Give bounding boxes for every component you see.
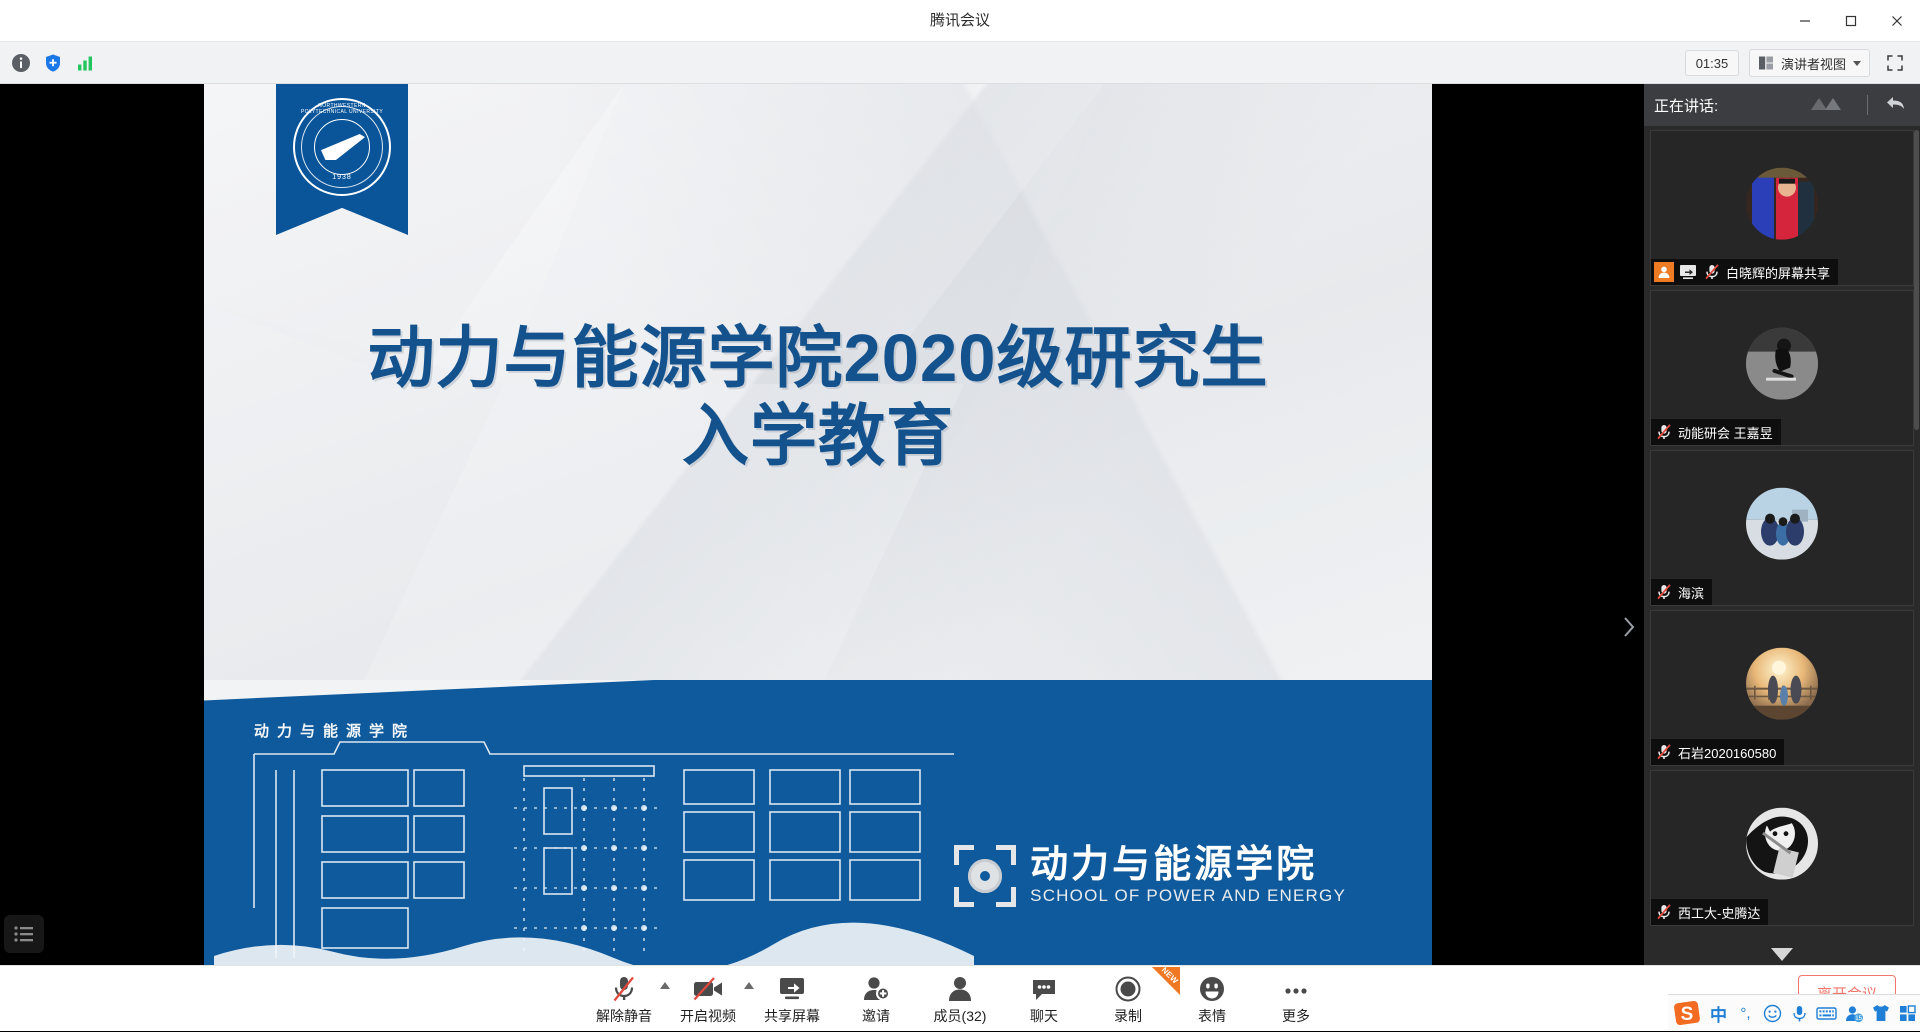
mute-label: 解除静音 <box>596 1006 652 1026</box>
more-dots-icon <box>1282 973 1310 1003</box>
window-controls <box>1782 0 1920 42</box>
share-screen-label: 共享屏幕 <box>764 1006 820 1026</box>
chevron-down-icon[interactable] <box>1771 948 1793 961</box>
svg-text:15: 15 <box>1855 1016 1862 1022</box>
participant-name: 海滨 <box>1678 583 1704 602</box>
sidebar-scrollbar[interactable] <box>1914 130 1919 430</box>
list-view-icon[interactable] <box>4 915 44 953</box>
share-screen-button[interactable]: 共享屏幕 <box>750 969 834 1029</box>
host-icon <box>1654 262 1674 282</box>
seal-year: 1938 <box>295 174 389 181</box>
record-button[interactable]: 录制 NEW <box>1086 969 1170 1029</box>
school-emblem-icon <box>954 845 1016 907</box>
minimize-button[interactable] <box>1782 0 1828 42</box>
seal-top-text: NORTHWESTERN POLYTECHNICAL UNIVERSITY <box>295 103 389 115</box>
school-name-en: SCHOOL OF POWER AND ENERGY <box>1030 886 1346 906</box>
school-name-cn: 动力与能源学院 <box>1030 846 1346 886</box>
shared-screen-slide[interactable]: NORTHWESTERN POLYTECHNICAL UNIVERSITY 19… <box>204 84 1432 965</box>
school-logo: 动力与能源学院 SCHOOL OF POWER AND ENERGY <box>954 845 1346 907</box>
participant-label: 动能研会 王嘉昱 <box>1651 419 1781 445</box>
building-blueprint-illustration: 动力与能源学院 <box>214 708 974 965</box>
svg-text:S: S <box>1681 1004 1694 1025</box>
participant-name: 西工大-史腾达 <box>1678 903 1760 922</box>
microphone-muted-icon <box>1654 582 1674 602</box>
participant-label: 白晓辉的屏幕共享 <box>1651 259 1838 285</box>
ime-punctuation-label: °, <box>1740 1005 1750 1022</box>
maximize-button[interactable] <box>1828 0 1874 42</box>
video-label: 开启视频 <box>680 1006 736 1026</box>
participants-sidebar: 正在讲话: <box>1644 84 1920 965</box>
slide-title: 动力与能源学院2020级研究生 入学教育 <box>204 320 1432 475</box>
participant-tiles: 白晓辉的屏幕共享 <box>1644 126 1920 965</box>
signal-bars-icon[interactable] <box>72 50 98 76</box>
user-badge-icon[interactable]: 15 <box>1841 998 1866 1028</box>
emoji-smile-icon <box>1198 973 1226 1003</box>
microphone-muted-icon <box>1654 422 1674 442</box>
shield-plus-icon[interactable] <box>40 50 66 76</box>
avatar <box>1746 168 1818 240</box>
microphone-muted-icon <box>1654 742 1674 762</box>
nwpu-seal-icon: NORTHWESTERN POLYTECHNICAL UNIVERSITY 19… <box>293 98 391 196</box>
sogou-ime-toolbar: S 中 °, <box>1668 994 1920 1031</box>
participant-label: 石岩2020160580 <box>1651 739 1784 765</box>
slide-upper-area: NORTHWESTERN POLYTECHNICAL UNIVERSITY 19… <box>204 84 1432 680</box>
toolbar-left-group <box>8 42 98 84</box>
window-title: 腾讯会议 <box>0 0 1920 42</box>
meeting-control-bar: 解除静音 开启视频 共享屏幕 <box>0 965 1920 1031</box>
participants-icon <box>947 973 973 1003</box>
invite-label: 邀请 <box>862 1006 890 1026</box>
share-screen-icon <box>777 973 807 1003</box>
ime-mode-toggle[interactable]: 中 <box>1706 998 1731 1028</box>
avatar <box>1746 808 1818 880</box>
window-title-bar: 腾讯会议 <box>0 0 1920 42</box>
blueprint-lines <box>214 708 974 965</box>
view-mode-label: 演讲者视图 <box>1781 54 1846 73</box>
record-label: 录制 <box>1114 1006 1142 1026</box>
chat-button[interactable]: 聊天 <box>1002 969 1086 1029</box>
participant-label: 海滨 <box>1651 579 1712 605</box>
fullscreen-icon[interactable] <box>1880 49 1910 77</box>
app-grid-icon[interactable] <box>1895 998 1920 1028</box>
invite-person-icon <box>862 973 890 1003</box>
seal-inner-ring <box>314 119 370 175</box>
record-circle-icon <box>1114 973 1142 1003</box>
chevron-right-icon[interactable] <box>1616 604 1642 650</box>
smiley-icon[interactable] <box>1760 998 1785 1028</box>
avatar <box>1746 488 1818 560</box>
more-button[interactable]: 更多 <box>1254 969 1338 1029</box>
mute-toggle-button[interactable]: 解除静音 <box>582 969 666 1029</box>
meeting-stage: NORTHWESTERN POLYTECHNICAL UNIVERSITY 19… <box>0 84 1920 965</box>
participant-name: 白晓辉的屏幕共享 <box>1726 263 1830 282</box>
header-divider <box>1867 95 1868 115</box>
invite-button[interactable]: 邀请 <box>834 969 918 1029</box>
control-buttons-group: 解除静音 开启视频 共享屏幕 <box>582 966 1338 1032</box>
emoji-label: 表情 <box>1198 1006 1226 1026</box>
slide-title-line-1: 动力与能源学院2020级研究生 <box>204 320 1432 398</box>
participants-button[interactable]: 成员(32) <box>918 969 1002 1029</box>
keyboard-icon[interactable] <box>1814 998 1839 1028</box>
microphone-muted-icon <box>1702 262 1722 282</box>
microphone-icon[interactable] <box>1787 998 1812 1028</box>
avatar <box>1746 328 1818 400</box>
ime-mode-label: 中 <box>1710 1001 1727 1026</box>
close-button[interactable] <box>1874 0 1920 42</box>
camera-muted-icon <box>692 973 724 1003</box>
sidebar-header: 正在讲话: <box>1644 84 1920 126</box>
tencent-meeting-mark <box>1809 94 1853 116</box>
layout-icon <box>1758 55 1774 71</box>
emoji-button[interactable]: 表情 <box>1170 969 1254 1029</box>
participant-tile[interactable]: 动能研会 王嘉昱 <box>1650 290 1914 446</box>
slide-title-line-2: 入学教育 <box>204 398 1432 476</box>
participant-name: 动能研会 王嘉昱 <box>1678 423 1773 442</box>
more-label: 更多 <box>1282 1006 1310 1026</box>
info-icon[interactable] <box>8 50 34 76</box>
toolbar-right-group: 01:35 演讲者视图 <box>1685 42 1910 84</box>
meeting-timer: 01:35 <box>1685 50 1739 76</box>
participant-tile[interactable]: 石岩2020160580 <box>1650 610 1914 766</box>
participant-tile[interactable]: 西工大-史腾达 <box>1650 770 1914 926</box>
participant-tile[interactable]: 白晓辉的屏幕共享 <box>1650 130 1914 286</box>
participant-name: 石岩2020160580 <box>1678 743 1776 762</box>
video-toggle-button[interactable]: 开启视频 <box>666 969 750 1029</box>
participant-label: 西工大-史腾达 <box>1651 899 1768 925</box>
chat-label: 聊天 <box>1030 1006 1058 1026</box>
seal-arrow-shape <box>321 134 365 160</box>
sogou-logo-icon[interactable]: S <box>1670 997 1704 1029</box>
avatar <box>1746 648 1818 720</box>
screen-share-icon <box>1678 263 1698 281</box>
participant-tile[interactable]: 海滨 <box>1650 450 1914 606</box>
slide-lower-area: 动力与能源学院 <box>204 680 1432 965</box>
tshirt-icon[interactable] <box>1868 998 1893 1028</box>
speaking-now-label: 正在讲话: <box>1654 95 1801 116</box>
chevron-down-icon <box>1853 61 1861 66</box>
microphone-muted-icon <box>1654 902 1674 922</box>
meeting-toolbar: 01:35 演讲者视图 <box>0 42 1920 84</box>
view-mode-selector[interactable]: 演讲者视图 <box>1749 49 1870 77</box>
participants-label: 成员(32) <box>934 1006 987 1026</box>
microphone-muted-icon <box>611 973 637 1003</box>
chat-bubble-icon <box>1030 973 1058 1003</box>
school-logo-text: 动力与能源学院 SCHOOL OF POWER AND ENERGY <box>1030 846 1346 906</box>
back-arrow-icon[interactable] <box>1882 91 1910 120</box>
ime-punctuation-toggle[interactable]: °, <box>1733 998 1758 1028</box>
